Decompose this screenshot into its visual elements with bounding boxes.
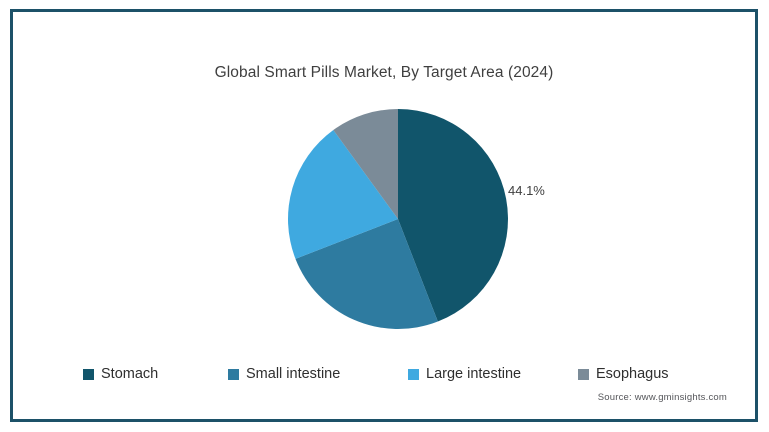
pie-chart-svg — [288, 109, 508, 329]
pie-chart — [288, 109, 508, 329]
pie-slice-group — [288, 109, 508, 329]
legend-swatch-icon — [83, 369, 94, 380]
page-title: Global Smart Pills Market, By Target Are… — [13, 64, 755, 82]
legend-item-label: Large intestine — [426, 367, 521, 382]
legend-item-esophagus[interactable]: Esophagus — [578, 367, 708, 382]
legend-item-label: Stomach — [101, 367, 158, 382]
legend-item-small-intestine[interactable]: Small intestine — [228, 367, 408, 382]
pie-slice-value-label-stomach: 44.1% — [508, 183, 545, 198]
legend-item-large-intestine[interactable]: Large intestine — [408, 367, 578, 382]
source-attribution: Source: www.gminsights.com — [598, 392, 727, 403]
legend-swatch-icon — [228, 369, 239, 380]
legend-swatch-icon — [408, 369, 419, 380]
chart-legend: Stomach Small intestine Large intestine … — [83, 362, 715, 386]
chart-frame-border: Global Smart Pills Market, By Target Are… — [10, 9, 758, 422]
legend-item-stomach[interactable]: Stomach — [83, 367, 228, 382]
legend-swatch-icon — [578, 369, 589, 380]
legend-item-label: Small intestine — [246, 367, 340, 382]
chart-page: Global Smart Pills Market, By Target Are… — [0, 0, 769, 432]
legend-item-label: Esophagus — [596, 367, 669, 382]
